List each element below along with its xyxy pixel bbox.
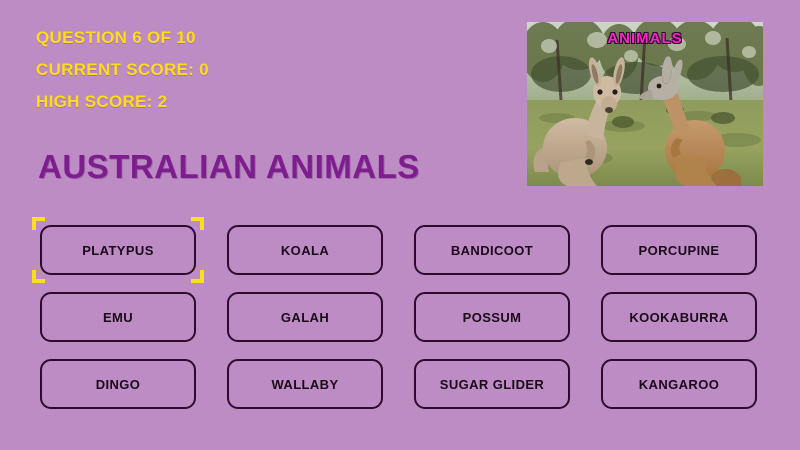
- answer-button[interactable]: WALLABY: [227, 359, 383, 409]
- selection-bracket-bl-icon: [32, 270, 45, 283]
- answer-button[interactable]: KANGAROO: [601, 359, 757, 409]
- selection-bracket-tl-icon: [32, 217, 45, 230]
- answer-grid: PLATYPUSKOALABANDICOOTPORCUPINEEMUGALAHP…: [40, 225, 756, 409]
- answer-label: WALLABY: [271, 377, 338, 392]
- illustration-caption: ANIMALS: [527, 30, 763, 47]
- answer-button[interactable]: POSSUM: [414, 292, 570, 342]
- answer-button[interactable]: SUGAR GLIDER: [414, 359, 570, 409]
- answer-button[interactable]: GALAH: [227, 292, 383, 342]
- answer-label: KOOKABURRA: [629, 310, 728, 325]
- answer-button[interactable]: KOALA: [227, 225, 383, 275]
- answer-button[interactable]: EMU: [40, 292, 196, 342]
- category-image: ANIMALS: [527, 22, 763, 186]
- high-score: HIGH SCORE: 2: [36, 92, 209, 112]
- answer-label: GALAH: [281, 310, 329, 325]
- answer-button[interactable]: PORCUPINE: [601, 225, 757, 275]
- current-score: CURRENT SCORE: 0: [36, 60, 209, 80]
- answer-button[interactable]: PLATYPUS: [40, 225, 196, 275]
- answer-label: PLATYPUS: [82, 243, 154, 258]
- answer-label: DINGO: [96, 377, 141, 392]
- category-title: AUSTRALIAN ANIMALS: [38, 148, 420, 186]
- answer-button[interactable]: KOOKABURRA: [601, 292, 757, 342]
- answer-label: SUGAR GLIDER: [440, 377, 544, 392]
- answer-label: KOALA: [281, 243, 329, 258]
- answer-label: EMU: [103, 310, 133, 325]
- answer-button[interactable]: BANDICOOT: [414, 225, 570, 275]
- answer-label: POSSUM: [463, 310, 522, 325]
- answer-label: KANGAROO: [639, 377, 719, 392]
- answer-label: BANDICOOT: [451, 243, 533, 258]
- answer-label: PORCUPINE: [639, 243, 720, 258]
- status-block: QUESTION 6 OF 10 CURRENT SCORE: 0 HIGH S…: [36, 28, 209, 112]
- selection-bracket-br-icon: [191, 270, 204, 283]
- question-counter: QUESTION 6 OF 10: [36, 28, 209, 48]
- answer-button[interactable]: DINGO: [40, 359, 196, 409]
- selection-bracket-tr-icon: [191, 217, 204, 230]
